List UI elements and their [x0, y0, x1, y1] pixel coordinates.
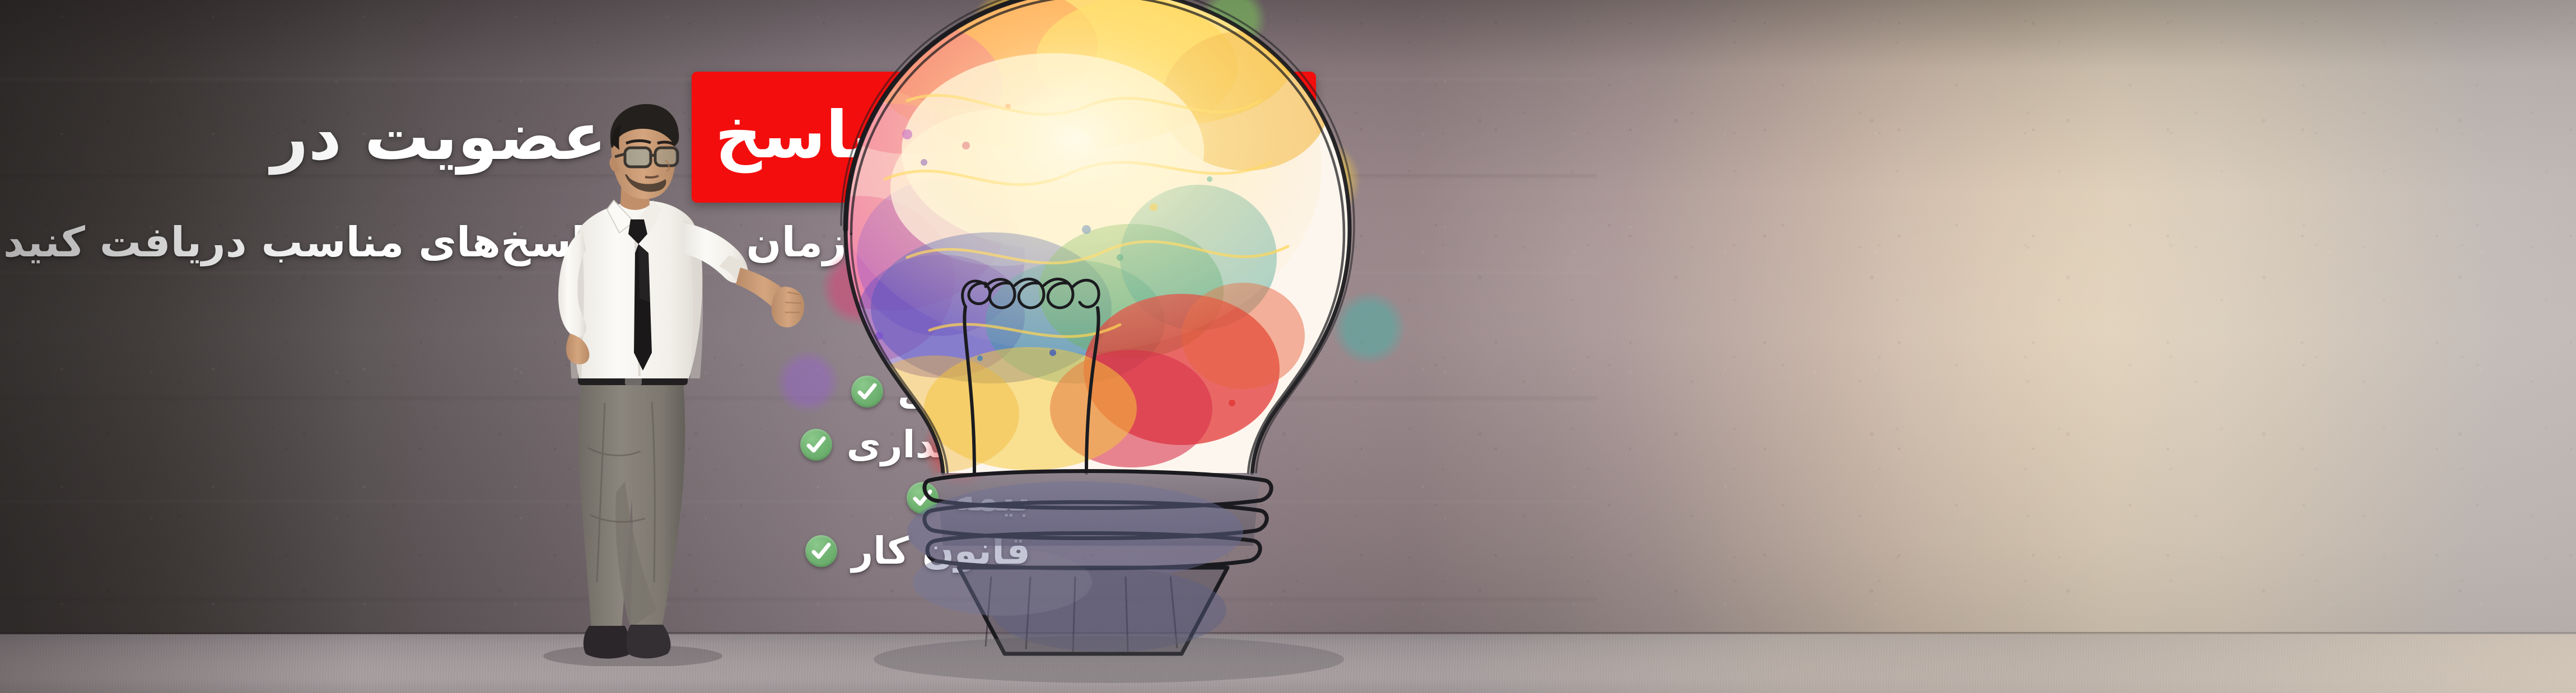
colorful-lightbulb-sketch-icon: [739, 0, 1579, 693]
businessman-leaning-icon: [515, 90, 806, 666]
promo-banner: تالار پرسش‌وپاسخ با عضویت در بپرسید و در…: [0, 0, 2576, 693]
